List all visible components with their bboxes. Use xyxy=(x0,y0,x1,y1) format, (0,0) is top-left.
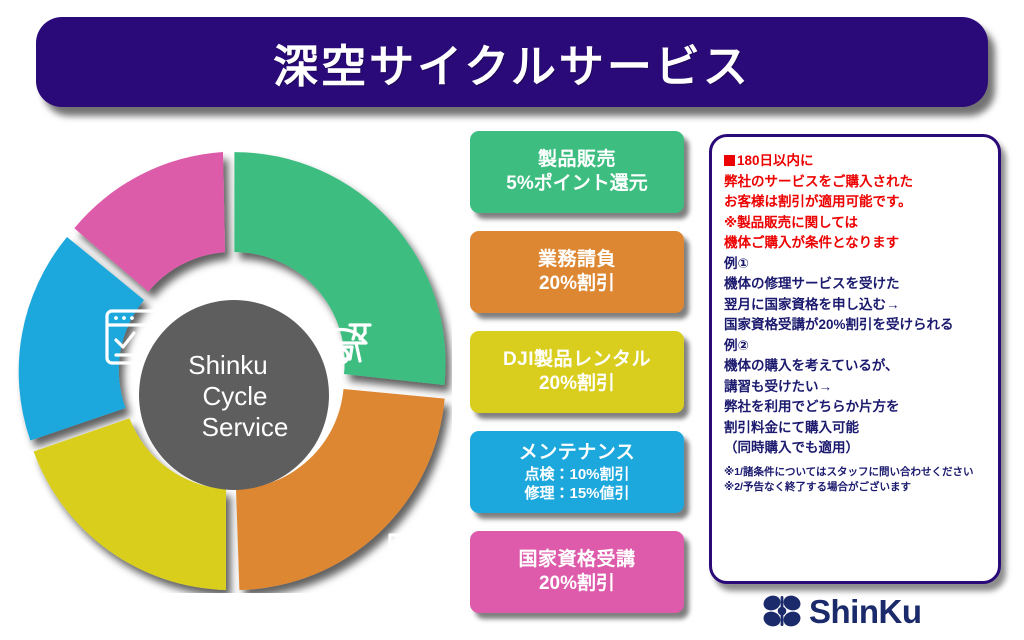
brand-logo: ShinKu xyxy=(762,592,921,630)
card-subtitle: 20%割引 xyxy=(539,572,615,596)
card-title: DJI製品レンタル xyxy=(503,348,651,372)
note-line-red-1: 弊社のサービスをご購入された xyxy=(724,172,990,193)
footnote-1: ※1/諸条件についてはスタッフに問い合わせください xyxy=(724,465,990,480)
note-line-red-2: お客様は割引が適用可能です。 xyxy=(724,192,990,213)
note-line-red-0: 180日以内に xyxy=(724,151,990,172)
note-line-red-3: ※製品販売に関しては xyxy=(724,213,990,234)
note-line-navy-5: 機体の購入を考えているが、 xyxy=(724,356,990,377)
card-title: 製品販売 xyxy=(538,148,616,172)
card-maintenance[interactable]: メンテナンス 点検：10%割引 修理：15%値引 xyxy=(470,431,684,513)
note-line-red-4: 機体ご購入が条件となります xyxy=(724,233,990,254)
contract-handshake-icon xyxy=(390,531,434,588)
propeller-icon xyxy=(762,592,802,630)
page-title: 深空サイクルサービス xyxy=(273,30,751,95)
card-subtitle-2: 修理：15%値引 xyxy=(524,484,629,503)
card-title: メンテナンス xyxy=(519,441,636,465)
card-national-license[interactable]: 国家資格受講 20%割引 xyxy=(470,531,684,613)
note-line-navy-7: 弊社を利用でどちらか片方を xyxy=(724,397,990,418)
note-line-navy-1: 機体の修理サービスを受けた xyxy=(724,274,990,295)
card-subtitle: 20%割引 xyxy=(539,372,615,396)
note-line-navy-3: 国家資格受講が20%割引を受けられる xyxy=(724,315,990,336)
card-dji-rental[interactable]: DJI製品レンタル 20%割引 xyxy=(470,331,684,413)
page-title-banner: 深空サイクルサービス xyxy=(36,17,988,107)
service-cycle-wheel: Shinku Cycle Service xyxy=(12,133,452,593)
card-subtitle: 20%割引 xyxy=(539,272,615,296)
card-title: 業務請負 xyxy=(538,248,616,272)
red-square-bullet-icon xyxy=(724,155,735,166)
note-line-navy-4: 例② xyxy=(724,336,990,357)
note-line-navy-6: 講習も受けたい→ xyxy=(724,377,990,398)
card-contract-work[interactable]: 業務請負 20%割引 xyxy=(470,231,684,313)
wheel-svg xyxy=(12,133,452,593)
card-subtitle: 5%ポイント還元 xyxy=(506,172,647,196)
house-wrench-icon xyxy=(44,535,102,591)
wheel-center-disc xyxy=(139,300,329,490)
card-subtitle: 点検：10%割引 xyxy=(524,465,629,484)
logo-text: ShinKu xyxy=(809,595,921,628)
note-line-navy-8: 割引料金にて購入可能 xyxy=(724,418,990,439)
card-title: 国家資格受講 xyxy=(518,548,635,572)
note-line-navy-0: 例① xyxy=(724,254,990,275)
footnote-2: ※2/予告なく終了する場合がございます xyxy=(724,480,990,495)
note-line-navy-9: （同時購入でも適用） xyxy=(724,438,990,459)
note-line-navy-2: 翌月に国家資格を申し込む→ xyxy=(724,295,990,316)
notes-panel: 180日以内に 弊社のサービスをご購入された お客様は割引が適用可能です。 ※製… xyxy=(709,134,1001,584)
card-product-sales[interactable]: 製品販売 5%ポイント還元 xyxy=(470,131,684,213)
